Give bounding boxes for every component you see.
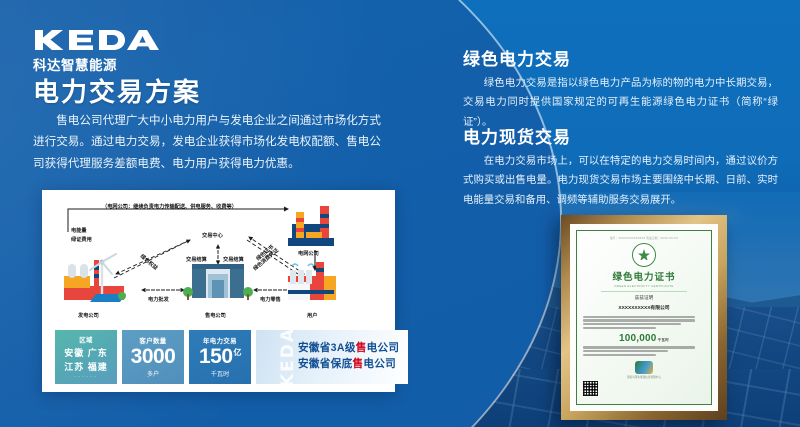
retailer-illustration [183,264,253,300]
diagram-top-note: （电网公司：继续负责电力传输配送、供电服务、收费等） [102,203,237,210]
stat-customers-value: 3000 [131,346,176,367]
diagram-label-green-fee: 绿证费用 [71,236,92,243]
section-heading-spot-trading: 电力现货交易 [463,123,571,148]
stat-annual-unit: 亿 [234,348,242,357]
certificate-body-lines-2 [583,345,705,358]
region-row: 江苏 福建 [64,360,108,373]
market-flow-diagram: （电网公司：继续负责电力传输配送、供电服务、收费等） 电能量 绿证费用 交易中心… [42,190,395,330]
section-heading-green-trading: 绿色电力交易 [463,45,571,70]
badge-line-2-c: 电公司 [363,358,396,370]
badge-line-2: 安徽省保底售电公司 [298,357,408,373]
stats-row: 区域 安徽 广东 江苏 福建 ······ 客户数量 3000 多户 年电力交易… [55,330,408,384]
stat-region-dots: ······ [74,374,98,380]
certificate-mat: 编号：XXXXXXXXXXXXXX 签发日期：XXXX-XX-XX 绿色电力证书… [570,224,718,411]
stat-annual-volume: 年电力交易 150亿 千瓦时 [189,330,251,384]
green-electricity-certificate: 编号：XXXXXXXXXXXXXX 签发日期：XXXX-XX-XX 绿色电力证书… [576,230,712,405]
generator-illustration [64,254,126,302]
stat-customers: 客户数量 3000 多户 [122,330,184,384]
certificate-title: 绿色电力证书 [612,269,675,283]
badge-line-2-a: 安徽省保底 [298,358,352,370]
keda-logo-icon [33,28,159,52]
badge-line-1-a: 安徽省3A级 [298,342,356,354]
badge-line-1: 安徽省3A级售电公司 [298,341,408,357]
diagram-label-settlement-right: 交易结算 [223,256,244,263]
diagram-canvas [42,190,395,330]
intro-paragraph: 售电公司代理广大中小电力用户与发电企业之间通过市场化方式进行交易。通过电力交易，… [33,110,381,174]
certificate-frame: 编号：XXXXXXXXXXXXXX 签发日期：XXXX-XX-XX 绿色电力证书… [561,215,727,420]
certificate-emblem-icon [635,361,653,374]
certificate-body-lines [583,314,705,331]
user-illustration [288,262,336,300]
stat-annual-foot: 千瓦时 [211,369,230,378]
keda-watermark: KEDA [278,330,298,384]
certificate-divider [601,291,686,292]
stat-region-caption: 区域 [79,335,93,344]
certificate-issuer: 国家可再生能源信息管理中心 [627,375,661,379]
certificate-title-en: GREEN ELECTRICITY CERTIFICATE [614,284,673,288]
section-body-spot-trading: 在电力交易市场上，可以在特定的电力交易时间内，通过议价方式购买或出售电量。电力现… [463,152,778,210]
badge-line-2-b: 售 [352,358,363,370]
diagram-label-retail: 电力零售 [260,296,281,303]
stat-customers-caption: 客户数量 [139,336,166,345]
stat-customers-foot: 多户 [147,369,159,378]
certificate-amount-value: 100,000 [619,333,657,344]
stat-region-values: 安徽 广东 江苏 福建 [64,346,108,373]
brand-logo: 科达智慧能源 [33,28,163,74]
diagram-label-energy-fee: 电能量 [71,227,87,234]
certificate-seal-icon [632,243,656,267]
diagram-node-retailer: 售电公司 [205,312,226,319]
certificate-serial: 编号：XXXXXXXXXXXXXX 签发日期：XXXX-XX-XX [610,236,678,240]
certificate-subtitle: 兹兹证明 [635,295,653,301]
grid-company-illustration [288,206,334,246]
diagram-node-grid: 电网公司 [298,250,319,257]
stat-region: 区域 安徽 广东 江苏 福建 ······ [55,330,117,384]
brand-subtitle: 科达智慧能源 [33,54,163,74]
qr-code-icon [583,381,598,396]
diagram-label-wholesale: 电力批发 [148,296,169,303]
badge-line-1-b: 售 [356,342,367,354]
page-title: 电力交易方案 [33,72,201,109]
certificate-company: XXXXXXXXXX有限公司 [618,304,669,311]
stat-annual-number: 150 [199,345,233,368]
slide-root: 科达智慧能源 电力交易方案 售电公司代理广大中小电力用户与发电企业之间通过市场化… [0,0,800,427]
diagram-node-user: 用户 [307,312,317,319]
diagram-label-trade-center: 交易中心 [202,232,223,239]
badge-line-1-c: 电公司 [367,342,400,354]
diagram-node-generator: 发电公司 [78,312,99,319]
stat-annual-caption: 年电力交易 [203,336,237,345]
certificate-amount: 100,000千瓦时 [619,333,669,344]
stat-annual-value: 150亿 [199,346,241,367]
certificate-amount-unit: 千瓦时 [658,338,669,342]
region-row: 安徽 广东 [64,346,108,359]
qualification-badge: KEDA 安徽省3A级售电公司 安徽省保底售电公司 [256,330,408,384]
content-card: （电网公司：继续负责电力传输配送、供电服务、收费等） 电能量 绿证费用 交易中心… [42,190,395,392]
diagram-label-settlement-left: 交易结算 [186,256,207,263]
